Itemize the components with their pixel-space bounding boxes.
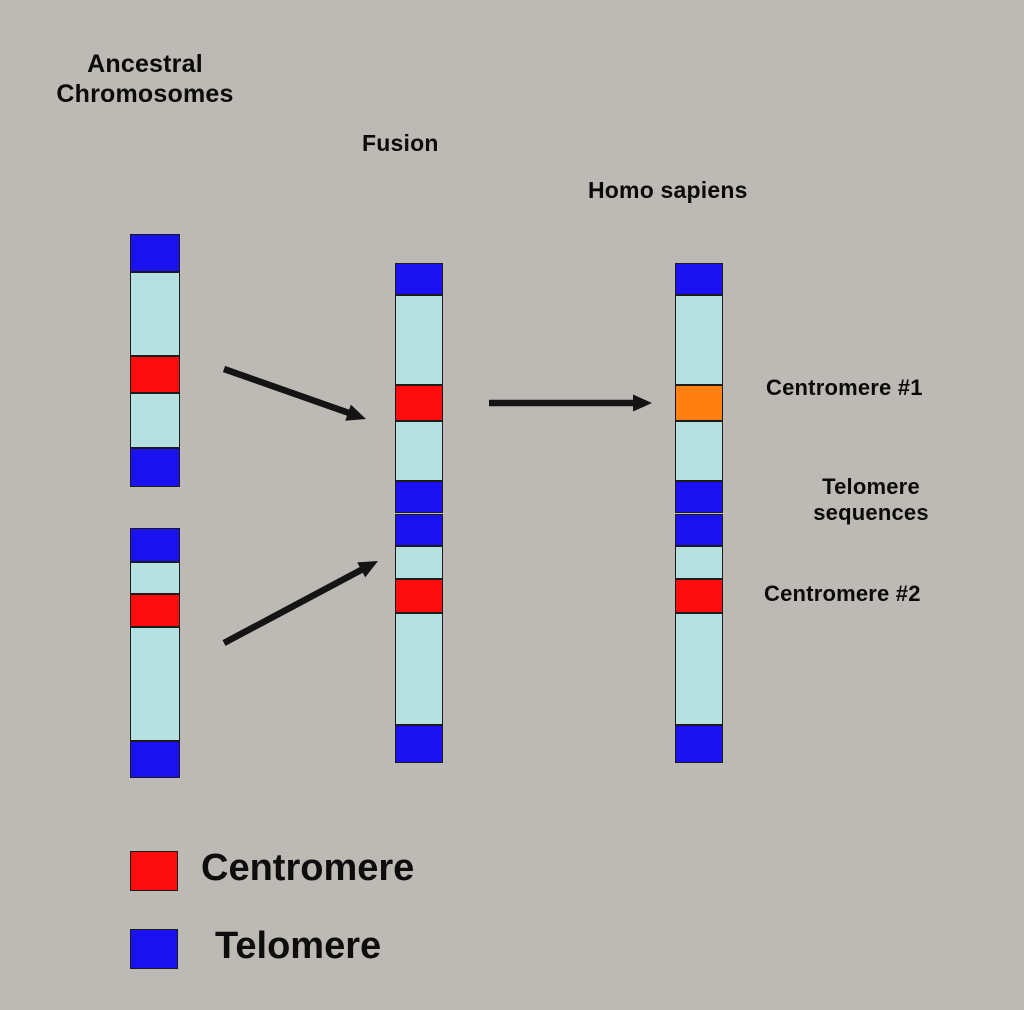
- annotation-telomere-sequences: Telomere sequences: [790, 474, 952, 526]
- band-chromatin: [675, 613, 723, 725]
- band-telomere: [395, 725, 443, 763]
- band-telomere: [395, 514, 443, 546]
- telomere-swatch: [130, 929, 178, 969]
- arrow-ancestral-a-to-fusion: [224, 369, 366, 421]
- arrow-ancestral-b-to-fusion: [224, 561, 378, 643]
- diagram-canvas: Ancestral Chromosomes Fusion Homo sapien…: [0, 0, 1024, 1010]
- band-telomere: [675, 263, 723, 295]
- arrow-head: [633, 395, 652, 412]
- band-telomere: [395, 263, 443, 295]
- band-chromatin: [395, 613, 443, 725]
- band-telomere: [675, 725, 723, 763]
- fusion-chromosome: [395, 263, 443, 763]
- ancestral-chromosome-a: [130, 234, 180, 487]
- ancestral-chromosome-b: [130, 528, 180, 778]
- band-chromatin: [130, 272, 180, 356]
- band-telomere: [130, 234, 180, 272]
- band-centromere: [675, 385, 723, 421]
- band-telomere: [130, 528, 180, 562]
- band-chromatin: [675, 546, 723, 579]
- band-chromatin: [130, 393, 180, 448]
- band-centromere: [395, 579, 443, 613]
- heading-fusion: Fusion: [362, 130, 439, 157]
- band-chromatin: [130, 562, 180, 594]
- arrow-head: [357, 561, 378, 577]
- band-telomere: [130, 741, 180, 778]
- band-centromere: [130, 594, 180, 627]
- arrow-head: [345, 405, 366, 421]
- centromere-swatch: [130, 851, 178, 891]
- band-chromatin: [130, 627, 180, 741]
- annotation-centromere-1: Centromere #1: [766, 375, 923, 401]
- band-centromere: [395, 385, 443, 421]
- band-chromatin: [395, 546, 443, 579]
- band-chromatin: [675, 421, 723, 481]
- band-telomere: [130, 448, 180, 487]
- band-chromatin: [675, 295, 723, 385]
- band-chromatin: [395, 421, 443, 481]
- legend-label-centromere: Centromere: [201, 847, 414, 890]
- band-telomere: [675, 514, 723, 546]
- band-telomere: [395, 481, 443, 513]
- band-chromatin: [395, 295, 443, 385]
- band-centromere: [675, 579, 723, 613]
- heading-homo-sapiens: Homo sapiens: [588, 177, 748, 204]
- annotation-centromere-2: Centromere #2: [764, 581, 921, 607]
- band-telomere: [675, 481, 723, 513]
- band-centromere: [130, 356, 180, 393]
- arrow-fusion-to-homo: [489, 395, 652, 412]
- homo-sapiens-chromosome: [675, 263, 723, 763]
- legend-label-telomere: Telomere: [215, 925, 381, 968]
- heading-ancestral-chromosomes: Ancestral Chromosomes: [40, 50, 250, 109]
